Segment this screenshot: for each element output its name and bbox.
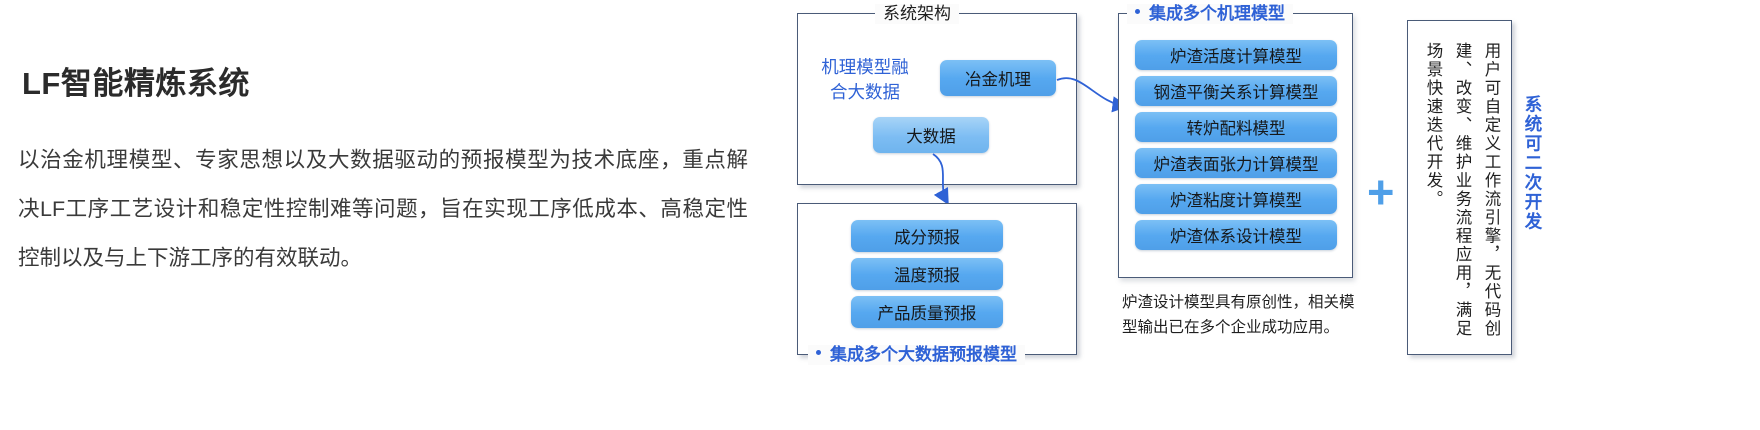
button-steel-slag-equilibrium-model[interactable]: 钢渣平衡关系计算模型 xyxy=(1135,76,1337,106)
button-label: 钢渣平衡关系计算模型 xyxy=(1154,79,1319,103)
button-temperature-forecast[interactable]: 温度预报 xyxy=(851,258,1003,290)
mechanism-panel-label: 集成多个机理模型 xyxy=(1127,4,1293,24)
button-composition-forecast[interactable]: 成分预报 xyxy=(851,220,1003,252)
button-label: 炉渣体系设计模型 xyxy=(1170,223,1302,247)
mechanism-panel-label-text: 集成多个机理模型 xyxy=(1149,4,1285,23)
button-label: 温度预报 xyxy=(894,262,960,286)
button-big-data[interactable]: 大数据 xyxy=(873,117,989,153)
page-title: LF智能精炼系统 xyxy=(22,58,250,103)
secondary-development-side-label: 系统可二次开发 xyxy=(1520,95,1546,232)
page-description: 以治金机理模型、专家思想以及大数据驱动的预报模型为技术底座，重点解决LF工序工艺… xyxy=(18,136,748,283)
bullet-icon xyxy=(1135,9,1140,14)
button-product-quality-forecast[interactable]: 产品质量预报 xyxy=(851,296,1003,328)
button-label: 炉渣活度计算模型 xyxy=(1170,43,1302,67)
button-label: 转炉配料模型 xyxy=(1187,115,1286,139)
button-slag-viscosity-model[interactable]: 炉渣粘度计算模型 xyxy=(1135,184,1337,214)
architecture-panel-label: 系统架构 xyxy=(875,4,959,24)
button-slag-activity-model[interactable]: 炉渣活度计算模型 xyxy=(1135,40,1337,70)
button-label: 成分预报 xyxy=(894,224,960,248)
architecture-panel-description: 机理模型融 合大数据 xyxy=(805,55,925,105)
button-label: 炉渣粘度计算模型 xyxy=(1170,187,1302,211)
architecture-diagram: 系统架构 机理模型融 合大数据 冶金机理 大数据 xyxy=(775,0,1760,430)
plus-icon: + xyxy=(1367,168,1394,215)
button-label: 产品质量预报 xyxy=(878,300,977,324)
forecast-panel-label-text: 集成多个大数据预报模型 xyxy=(830,345,1017,364)
bullet-icon xyxy=(816,350,821,355)
slide-canvas: LF智能精炼系统 以治金机理模型、专家思想以及大数据驱动的预报模型为技术底座，重… xyxy=(0,0,1760,430)
left-text-column: LF智能精炼系统 以治金机理模型、专家思想以及大数据驱动的预报模型为技术底座，重… xyxy=(0,0,770,430)
button-converter-charging-model[interactable]: 转炉配料模型 xyxy=(1135,112,1337,142)
button-label: 大数据 xyxy=(906,123,956,147)
forecast-panel-label: 集成多个大数据预报模型 xyxy=(808,345,1025,365)
secondary-development-paragraph: 用户可自定义工作流引擎，无代码创建、改变、维护业务流程应用，满足场景快速迭代开发… xyxy=(1415,42,1505,342)
button-metallurgical-mechanism[interactable]: 冶金机理 xyxy=(940,60,1056,96)
mechanism-panel-caption: 炉渣设计模型具有原创性，相关模型输出已在多个企业成功应用。 xyxy=(1122,290,1357,340)
button-label: 冶金机理 xyxy=(965,66,1031,90)
button-label: 炉渣表面张力计算模型 xyxy=(1154,151,1319,175)
button-slag-system-design-model[interactable]: 炉渣体系设计模型 xyxy=(1135,220,1337,250)
button-slag-surface-tension-model[interactable]: 炉渣表面张力计算模型 xyxy=(1135,148,1337,178)
